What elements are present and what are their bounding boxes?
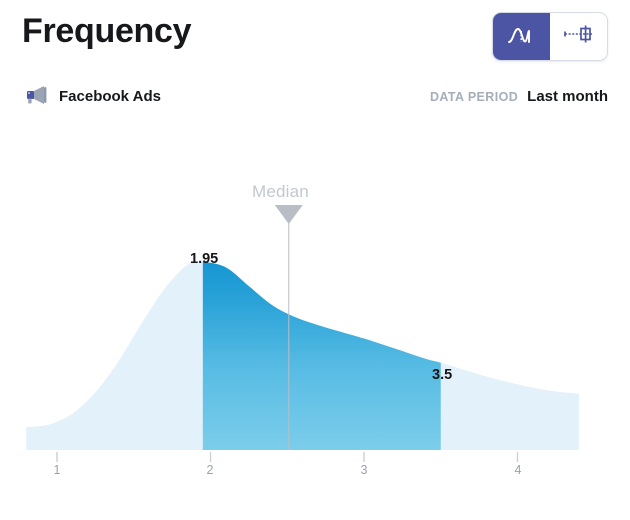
x-tick-label-3: 3 xyxy=(361,463,368,477)
density-area-highlight xyxy=(26,261,579,450)
toggle-boxplot-view[interactable] xyxy=(550,13,607,60)
chart-canvas xyxy=(0,0,630,520)
toggle-distribution-view[interactable] xyxy=(493,13,550,60)
view-toggle[interactable] xyxy=(492,12,608,61)
page-title: Frequency xyxy=(22,14,191,48)
distribution-curve-icon xyxy=(507,23,537,50)
x-tick-label-2: 2 xyxy=(207,463,214,477)
range-start-label: 1.95 xyxy=(190,251,218,267)
data-source-label: Facebook Ads xyxy=(59,88,161,105)
range-end-label: 3.5 xyxy=(432,367,452,383)
median-triangle-icon xyxy=(275,205,303,224)
x-tick-label-4: 4 xyxy=(515,463,522,477)
data-source-row: Facebook Ads xyxy=(23,84,161,108)
data-period: DATA PERIOD Last month xyxy=(430,88,608,105)
distribution-chart xyxy=(0,0,630,520)
data-period-label: DATA PERIOD xyxy=(430,90,518,104)
box-plot-icon xyxy=(562,23,596,50)
median-label: Median xyxy=(252,182,309,202)
x-tick-label-1: 1 xyxy=(54,463,61,477)
median-marker-group xyxy=(275,205,303,450)
megaphone-icon xyxy=(23,84,49,108)
axis-ticks xyxy=(57,452,518,462)
density-area-base xyxy=(26,261,579,450)
data-period-value[interactable]: Last month xyxy=(527,88,608,105)
